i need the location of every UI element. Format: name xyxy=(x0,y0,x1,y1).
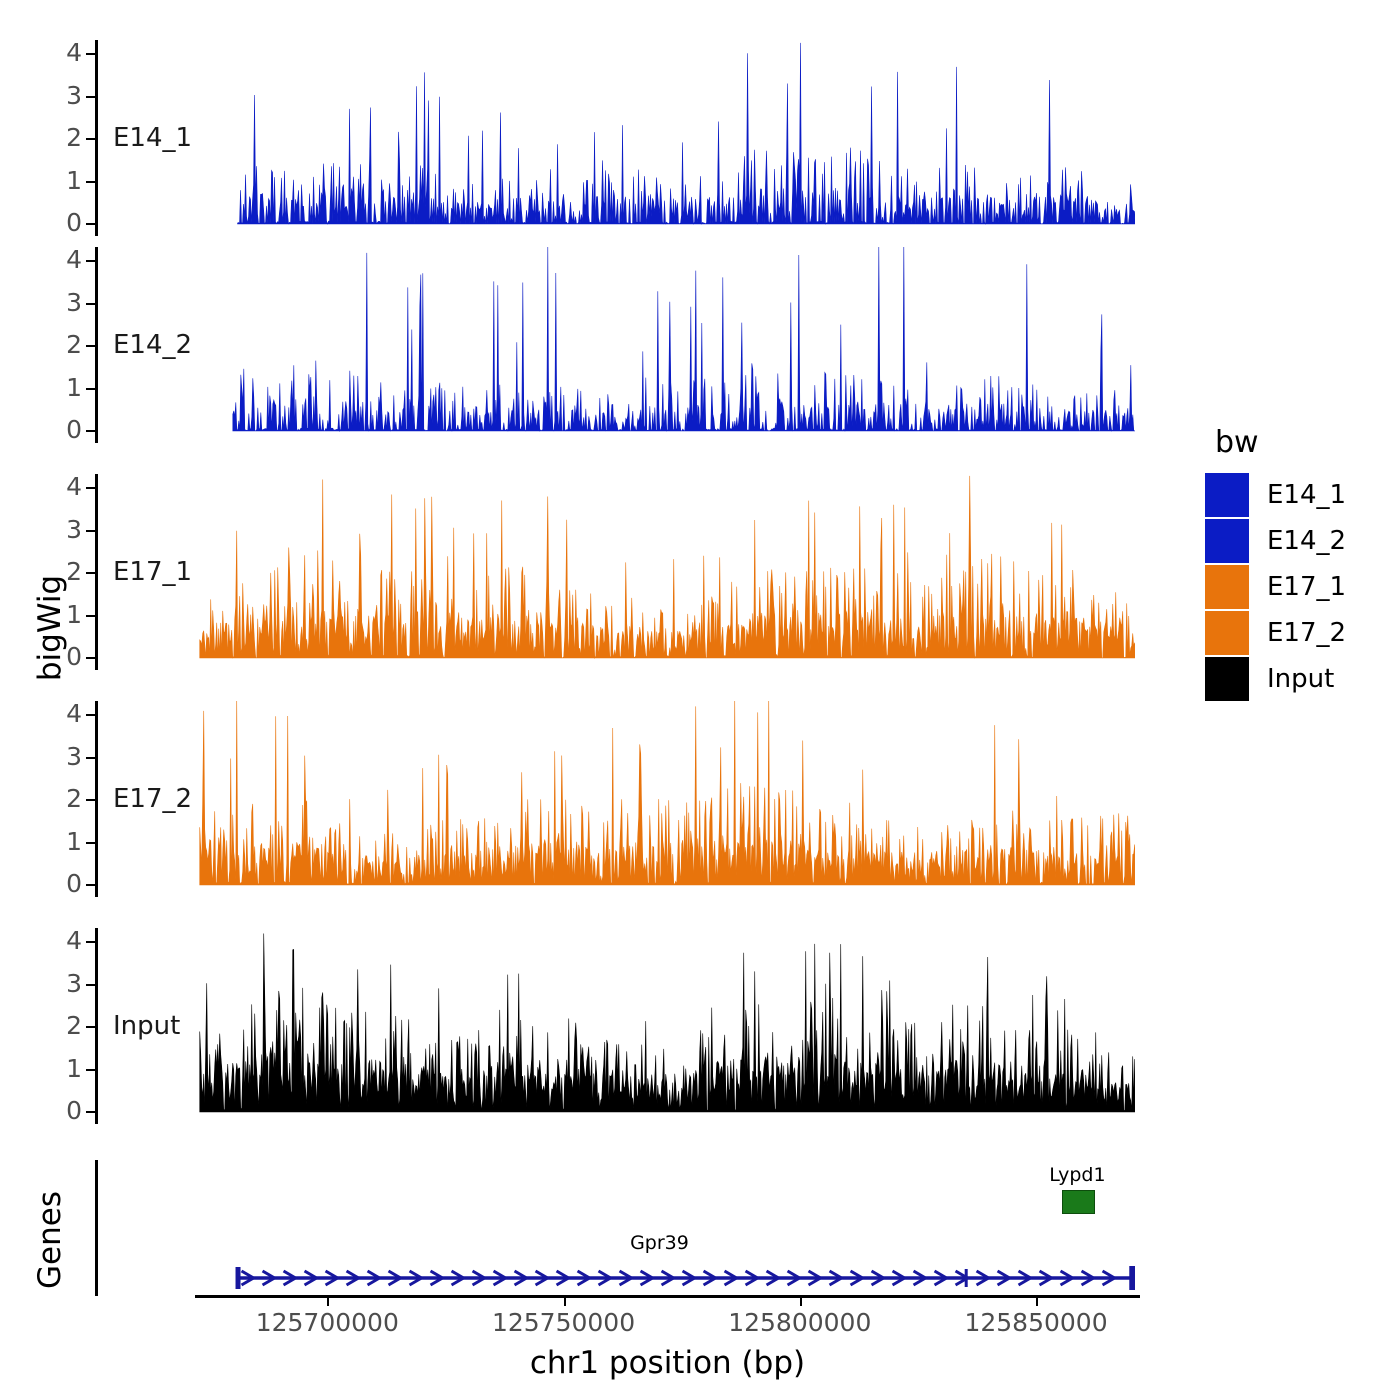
y-tick-label: 1 xyxy=(40,829,82,854)
y-tick-label: 4 xyxy=(40,474,82,499)
y-tick-mark xyxy=(86,1069,95,1071)
legend-title: bw xyxy=(1215,428,1346,458)
signal-svg xyxy=(95,928,1135,1124)
y-tick-label: 0 xyxy=(40,210,82,235)
y-tick-mark xyxy=(86,984,95,986)
y-tick-label: 2 xyxy=(40,125,82,150)
legend-color-swatch xyxy=(1205,519,1249,563)
y-tick-mark xyxy=(86,530,95,532)
legend-label: Input xyxy=(1267,666,1334,692)
track-panel-e17_1: 01234E17_1 xyxy=(95,474,1135,670)
legend-color-swatch xyxy=(1205,473,1249,517)
y-tick-mark xyxy=(86,487,95,489)
y-tick-label: 1 xyxy=(40,602,82,627)
genes-panel: Lypd1Gpr39 xyxy=(95,1160,1135,1296)
gene-exon-internal xyxy=(965,1269,968,1287)
legend-color-swatch xyxy=(1205,657,1249,701)
signal-path xyxy=(233,247,1135,431)
signal-svg xyxy=(95,701,1135,897)
y-tick-mark xyxy=(86,303,95,305)
signal-svg xyxy=(95,247,1135,443)
legend-item-e17_1[interactable]: E17_1 xyxy=(1205,564,1346,610)
gene-label-gpr39: Gpr39 xyxy=(630,1234,689,1253)
legend-items: E14_1E14_2E17_1E17_2Input xyxy=(1205,472,1346,702)
y-tick-mark xyxy=(86,223,95,225)
signal-path xyxy=(238,43,1135,224)
y-tick-mark xyxy=(86,53,95,55)
legend-label: E14_1 xyxy=(1267,482,1346,508)
legend-item-e14_1[interactable]: E14_1 xyxy=(1205,472,1346,518)
gene-feature-lypd1[interactable] xyxy=(1062,1190,1095,1214)
legend-label: E14_2 xyxy=(1267,528,1346,554)
x-axis-title: chr1 position (bp) xyxy=(195,1348,1140,1379)
gene-exon-end xyxy=(1129,1266,1135,1290)
y-tick-label: 3 xyxy=(40,744,82,769)
x-tick-mark xyxy=(1036,1298,1038,1306)
y-tick-label: 1 xyxy=(40,1056,82,1081)
signal-area-e17_2 xyxy=(95,701,1135,897)
signal-svg xyxy=(95,40,1135,236)
y-tick-mark xyxy=(86,941,95,943)
y-tick-mark xyxy=(86,138,95,140)
x-tick-mark xyxy=(564,1298,566,1306)
y-tick-mark xyxy=(86,430,95,432)
legend-color-swatch xyxy=(1205,565,1249,609)
y-tick-label: 4 xyxy=(40,40,82,65)
y-tick-mark xyxy=(86,181,95,183)
y-tick-label: 4 xyxy=(40,247,82,272)
y-tick-label: 4 xyxy=(40,701,82,726)
y-tick-label: 3 xyxy=(40,290,82,315)
y-tick-label: 3 xyxy=(40,83,82,108)
x-tick-label: 125750000 xyxy=(492,1310,635,1335)
y-tick-mark xyxy=(86,388,95,390)
track-panel-input: 01234Input xyxy=(95,928,1135,1124)
track-panel-e14_2: 01234E14_2 xyxy=(95,247,1135,443)
x-tick-mark xyxy=(327,1298,329,1306)
y-tick-mark xyxy=(86,260,95,262)
signal-path xyxy=(200,933,1135,1112)
gene-feature-gpr39[interactable] xyxy=(95,1260,1135,1296)
y-tick-mark xyxy=(86,799,95,801)
legend-item-input[interactable]: Input xyxy=(1205,656,1346,702)
y-tick-mark xyxy=(86,345,95,347)
y-tick-mark xyxy=(86,572,95,574)
y-tick-mark xyxy=(86,1026,95,1028)
gene-exon-start xyxy=(236,1267,241,1289)
signal-svg xyxy=(95,474,1135,670)
y-tick-mark xyxy=(86,714,95,716)
signal-area-e17_1 xyxy=(95,474,1135,670)
x-tick-label: 125850000 xyxy=(964,1310,1107,1335)
y-tick-label: 3 xyxy=(40,971,82,996)
y-tick-label: 0 xyxy=(40,1098,82,1123)
y-tick-label: 0 xyxy=(40,644,82,669)
x-tick-mark xyxy=(800,1298,802,1306)
y-tick-mark xyxy=(86,657,95,659)
y-tick-label: 4 xyxy=(40,928,82,953)
y-tick-mark xyxy=(86,884,95,886)
signal-area-e14_2 xyxy=(95,247,1135,443)
y-tick-label: 2 xyxy=(40,786,82,811)
y-tick-mark xyxy=(86,96,95,98)
signal-path xyxy=(200,701,1135,885)
x-tick-label: 125700000 xyxy=(256,1310,399,1335)
y-tick-label: 1 xyxy=(40,168,82,193)
y-tick-label: 2 xyxy=(40,559,82,584)
legend-label: E17_1 xyxy=(1267,574,1346,600)
track-panel-e17_2: 01234E17_2 xyxy=(95,701,1135,897)
legend-label: E17_2 xyxy=(1267,620,1346,646)
y-tick-mark xyxy=(86,1111,95,1113)
x-tick-label: 125800000 xyxy=(728,1310,871,1335)
y-axis-title-genes: Genes xyxy=(32,1150,68,1330)
signal-area-e14_1 xyxy=(95,40,1135,236)
gene-label-lypd1: Lypd1 xyxy=(1049,1166,1105,1185)
x-axis-line xyxy=(195,1295,1140,1298)
y-tick-mark xyxy=(86,615,95,617)
y-tick-label: 0 xyxy=(40,871,82,896)
y-tick-label: 3 xyxy=(40,517,82,542)
legend: bw E14_1E14_2E17_1E17_2Input xyxy=(1205,428,1346,702)
y-tick-label: 2 xyxy=(40,332,82,357)
legend-item-e17_2[interactable]: E17_2 xyxy=(1205,610,1346,656)
track-panel-e14_1: 01234E14_1 xyxy=(95,40,1135,236)
y-tick-label: 2 xyxy=(40,1013,82,1038)
legend-item-e14_2[interactable]: E14_2 xyxy=(1205,518,1346,564)
y-tick-mark xyxy=(86,757,95,759)
y-tick-label: 0 xyxy=(40,417,82,442)
y-tick-label: 1 xyxy=(40,375,82,400)
legend-color-swatch xyxy=(1205,611,1249,655)
signal-area-input xyxy=(95,928,1135,1124)
y-tick-mark xyxy=(86,842,95,844)
signal-path xyxy=(200,476,1135,658)
